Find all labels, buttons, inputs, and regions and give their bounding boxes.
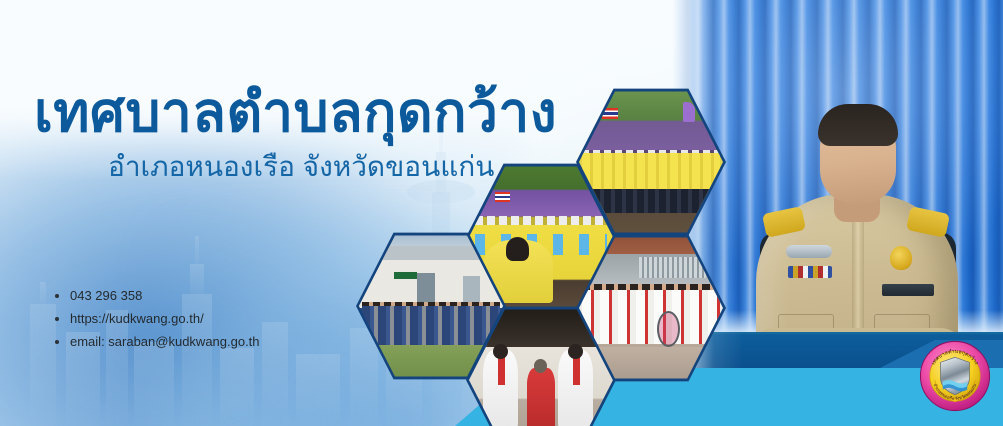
wing-insignia	[786, 245, 832, 258]
headline-block: เทศบาลตำบลกุดกว้าง อำเภอหนองเรือ จังหวัด…	[34, 84, 557, 183]
contact-phone-text: 043 296 358	[70, 288, 142, 303]
bullet-icon	[55, 340, 59, 344]
contact-website[interactable]: https://kudkwang.go.th/	[55, 311, 260, 326]
municipal-seal[interactable]: เทศบาลตำบลกุดกว้าง อำเภอหนองเรือ จังหวัด…	[919, 340, 991, 412]
contact-email[interactable]: email: saraban@kudkwang.go.th	[55, 334, 260, 349]
bullet-icon	[55, 294, 59, 298]
page-title: เทศบาลตำบลกุดกว้าง	[34, 84, 557, 140]
thai-flag-icon	[602, 108, 618, 119]
municipality-banner: เทศบาลตำบลกุดกว้าง อำเภอหนองเรือ จังหวัด…	[0, 0, 1003, 426]
contact-phone[interactable]: 043 296 358	[55, 288, 260, 303]
hair	[818, 104, 898, 146]
contact-email-text: email: saraban@kudkwang.go.th	[70, 334, 260, 349]
bullet-icon	[55, 317, 59, 321]
thai-flag-icon	[495, 192, 510, 202]
purple-flag-icon	[683, 102, 695, 122]
gold-badge-icon	[890, 246, 912, 270]
contact-list: 043 296 358 https://kudkwang.go.th/ emai…	[55, 288, 260, 349]
contact-website-text: https://kudkwang.go.th/	[70, 311, 204, 326]
service-ribbons	[788, 266, 832, 278]
page-subtitle: อำเภอหนองเรือ จังหวัดขอนแก่น	[108, 152, 557, 183]
name-plate	[882, 284, 934, 296]
